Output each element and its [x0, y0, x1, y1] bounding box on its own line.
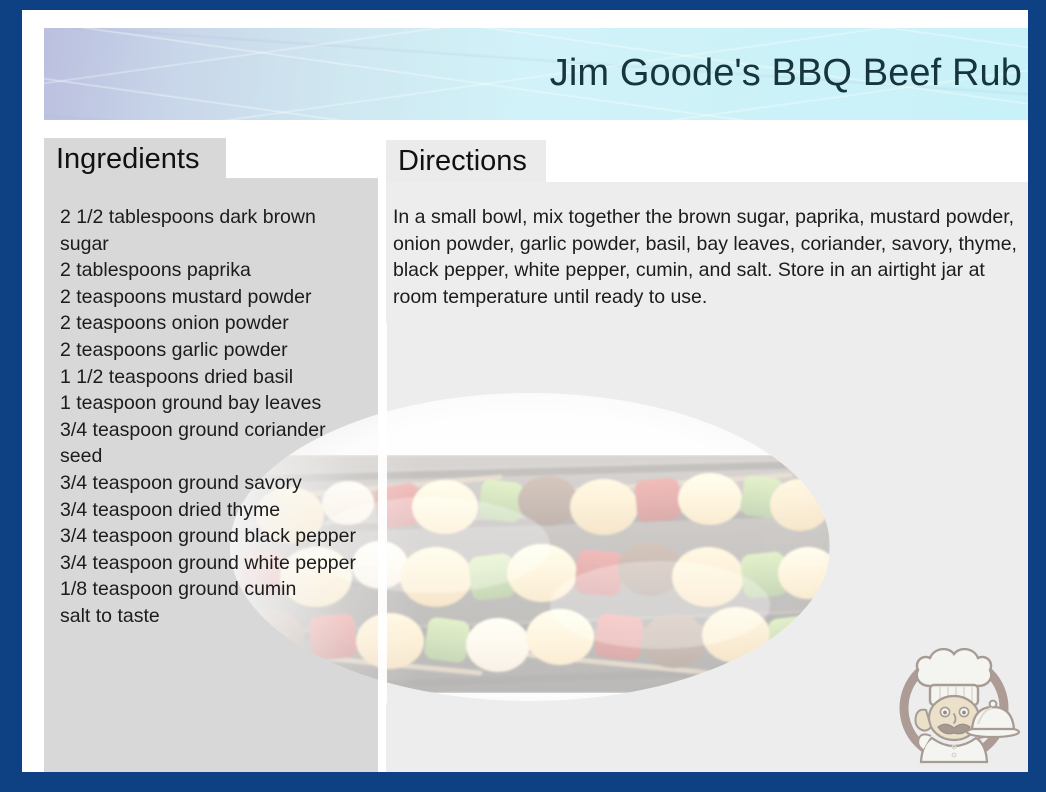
directions-body: In a small bowl, mix together the brown …	[386, 182, 1028, 772]
card-inner-surface: Jim Goode's BBQ Beef Rub Ingredients 2 1…	[22, 10, 1028, 772]
ingredients-body: 2 1/2 tablespoons dark brown sugar 2 tab…	[44, 178, 378, 772]
directions-heading: Directions	[386, 140, 546, 182]
list-item: 3/4 teaspoon dried thyme	[60, 497, 362, 524]
list-item: 2 teaspoons onion powder	[60, 310, 362, 337]
list-item: 1/8 teaspoon ground cumin	[60, 576, 362, 603]
list-item: 2 teaspoons garlic powder	[60, 337, 362, 364]
list-item: 1 1/2 teaspoons dried basil	[60, 364, 362, 391]
recipe-title: Jim Goode's BBQ Beef Rub	[550, 53, 1022, 95]
title-banner: Jim Goode's BBQ Beef Rub	[44, 28, 1028, 120]
directions-text: In a small bowl, mix together the brown …	[393, 204, 1028, 310]
list-item: 3/4 teaspoon ground coriander seed	[60, 417, 362, 470]
list-item: salt to taste	[60, 603, 362, 630]
recipe-card: Jim Goode's BBQ Beef Rub Ingredients 2 1…	[0, 0, 1046, 792]
list-item: 2 teaspoons mustard powder	[60, 284, 362, 311]
list-item: 2 1/2 tablespoons dark brown sugar	[60, 204, 362, 257]
list-item: 3/4 teaspoon ground savory	[60, 470, 362, 497]
ingredients-list: 2 1/2 tablespoons dark brown sugar 2 tab…	[60, 204, 362, 630]
list-item: 3/4 teaspoon ground black pepper	[60, 523, 362, 550]
list-item: 3/4 teaspoon ground white pepper	[60, 550, 362, 577]
ingredients-heading: Ingredients	[44, 138, 226, 178]
list-item: 2 tablespoons paprika	[60, 257, 362, 284]
list-item: 1 teaspoon ground bay leaves	[60, 390, 362, 417]
